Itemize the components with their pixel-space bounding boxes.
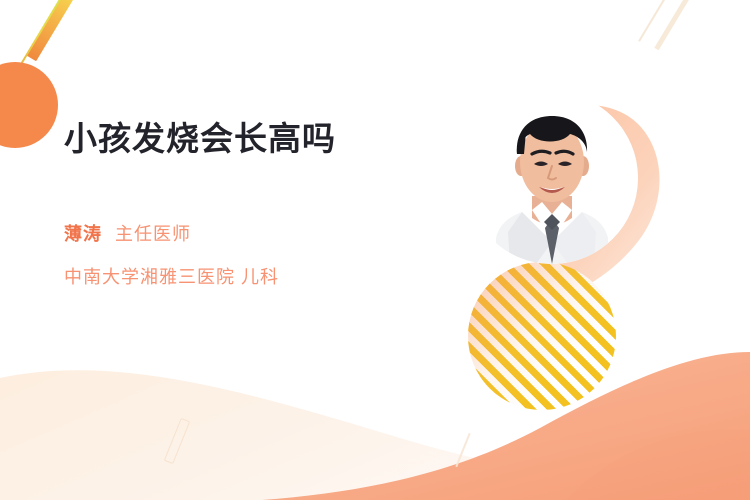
page-title: 小孩发烧会长高吗 bbox=[64, 118, 464, 159]
doctor-title: 主任医师 bbox=[115, 224, 191, 244]
text-block: 小孩发烧会长高吗 薄涛主任医师 中南大学湘雅三医院 儿科 bbox=[64, 118, 464, 289]
doctor-affiliation: 中南大学湘雅三医院 儿科 bbox=[64, 263, 464, 289]
doctor-name: 薄涛 bbox=[64, 224, 102, 244]
doctor-byline: 薄涛主任医师 bbox=[64, 225, 464, 244]
doctor-intro-banner: 小孩发烧会长高吗 薄涛主任医师 中南大学湘雅三医院 儿科 bbox=[0, 0, 750, 500]
